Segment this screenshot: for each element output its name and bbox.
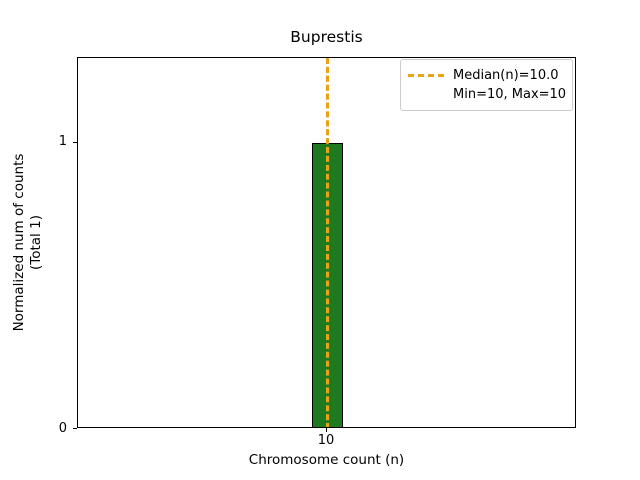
- legend-label-minmax: Min=10, Max=10: [453, 88, 566, 101]
- chart-title: Buprestis: [77, 30, 576, 46]
- ytick-label-0: 0: [59, 422, 67, 435]
- legend-label-median: Median(n)=10.0: [453, 69, 559, 82]
- ytick-label-1: 1: [59, 135, 67, 148]
- legend-item-minmax: Min=10, Max=10: [408, 85, 564, 104]
- dashed-line-swatch-icon: [408, 74, 444, 77]
- y-axis-label: Normalized num of counts (Total 1): [11, 57, 51, 428]
- median-line-overlay-icon: [326, 58, 329, 428]
- xtick-label-10: 10: [306, 434, 346, 447]
- x-axis-label: Chromosome count (n): [77, 454, 576, 468]
- plot-area: [77, 57, 576, 428]
- xtick-mark-10: [326, 428, 327, 432]
- ytick-mark-0: [73, 428, 77, 429]
- chart-figure: Buprestis 0 1 10 Chromosome count (n) No…: [0, 0, 640, 480]
- legend: Median(n)=10.0 Min=10, Max=10: [400, 59, 573, 111]
- legend-item-median: Median(n)=10.0: [408, 66, 564, 85]
- ytick-mark-1: [73, 142, 77, 143]
